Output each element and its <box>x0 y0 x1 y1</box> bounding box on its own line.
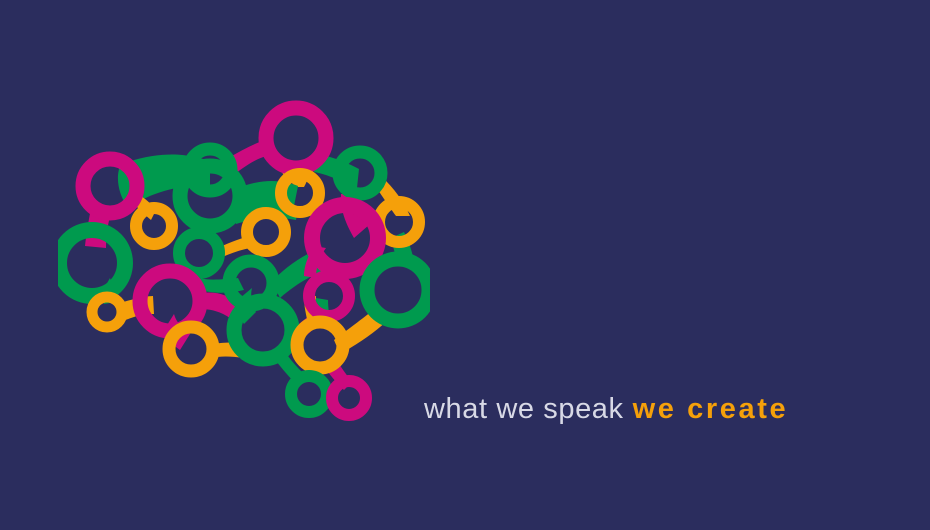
node-n2-magenta <box>266 108 326 168</box>
node-n21-green <box>291 376 327 412</box>
node-n17-magenta <box>309 276 349 316</box>
tagline-bold-text: we create <box>633 393 789 425</box>
node-n19-orange <box>169 327 213 371</box>
node-n10-orange <box>247 213 285 251</box>
node-n18-green <box>234 301 292 359</box>
node-n20-orange <box>297 322 343 368</box>
node-n7-orange <box>136 208 172 244</box>
node-n3-green <box>339 152 381 194</box>
node-n15-orange <box>92 297 122 327</box>
brain-network-logo <box>58 98 430 434</box>
slide-canvas: what we speakwe create <box>0 0 930 530</box>
node-n14-green <box>367 259 429 321</box>
brain-logo-svg <box>58 98 430 434</box>
tagline: what we speakwe create <box>424 391 788 427</box>
node-n6-orange <box>281 174 319 212</box>
node-n22-magenta <box>332 381 366 415</box>
tagline-light-text: what we speak <box>424 393 624 425</box>
